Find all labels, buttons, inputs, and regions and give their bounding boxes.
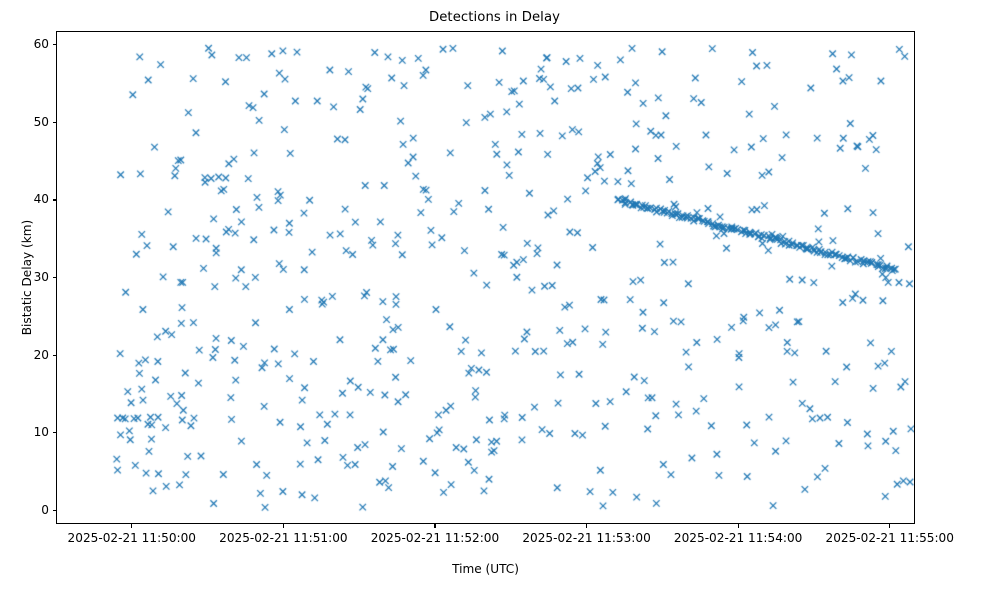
x-tick-mark xyxy=(889,524,890,528)
y-axis-label: Bistatic Delay (km) xyxy=(20,31,38,524)
x-tick-mark xyxy=(283,524,284,528)
x-tick-mark xyxy=(738,524,739,528)
y-tick-mark xyxy=(53,510,57,511)
x-tick-label: 2025-02-21 11:55:00 xyxy=(826,530,954,547)
x-tick-mark xyxy=(586,524,587,528)
plot-axes xyxy=(56,31,915,524)
y-tick-mark xyxy=(53,277,57,278)
y-tick-mark xyxy=(53,44,57,45)
y-tick-label: 0 xyxy=(41,502,49,519)
x-tick-label: 2025-02-21 11:52:00 xyxy=(371,530,499,547)
y-tick-mark xyxy=(53,432,57,433)
y-tick-mark xyxy=(53,355,57,356)
chart-title: Detections in Delay xyxy=(0,10,989,25)
x-tick-label: 2025-02-21 11:51:00 xyxy=(219,530,347,547)
y-tick-mark xyxy=(53,122,57,123)
x-axis-ticks: 2025-02-21 11:50:002025-02-21 11:51:0020… xyxy=(56,524,915,564)
x-tick-mark xyxy=(434,524,435,528)
x-tick-label: 2025-02-21 11:54:00 xyxy=(674,530,802,547)
scatter-plot-canvas xyxy=(57,32,915,524)
x-tick-mark xyxy=(131,524,132,528)
x-tick-label: 2025-02-21 11:53:00 xyxy=(522,530,650,547)
x-axis-label: Time (UTC) xyxy=(56,562,915,576)
y-tick-mark xyxy=(53,199,57,200)
x-tick-label: 2025-02-21 11:50:00 xyxy=(68,530,196,547)
matplotlib-figure: Detections in Delay 0102030405060 2025-0… xyxy=(0,0,989,590)
